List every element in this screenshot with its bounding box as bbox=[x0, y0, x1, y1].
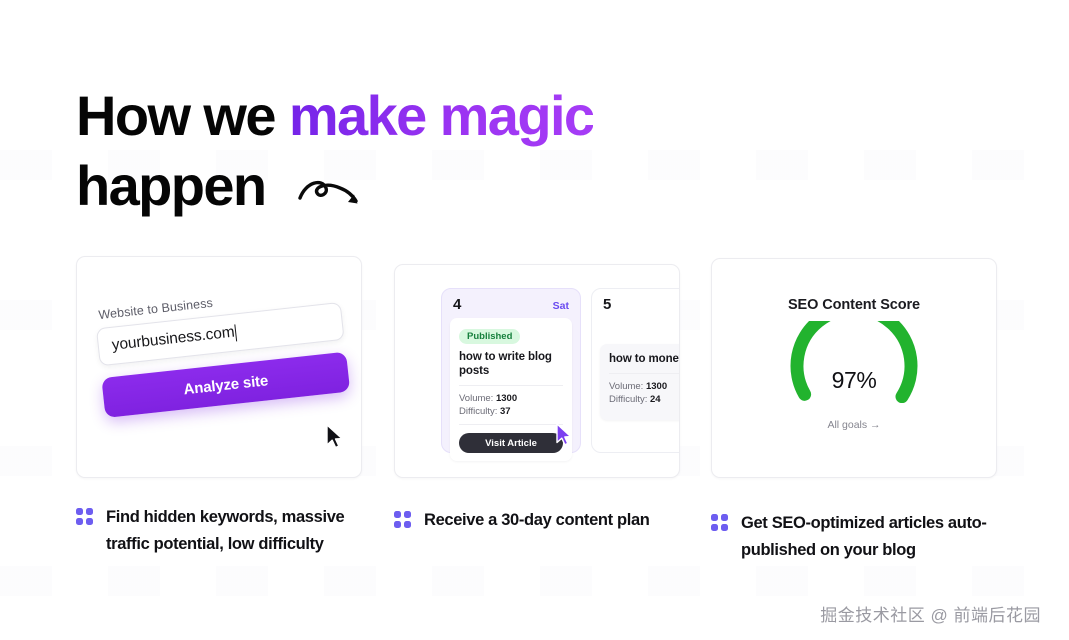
mouse-pointer-icon bbox=[555, 423, 575, 452]
volume-label: Volume: bbox=[609, 381, 643, 392]
difficulty-label: Difficulty: bbox=[609, 394, 647, 405]
plan-article: how to monetize Volume: 1300 Difficulty:… bbox=[600, 344, 680, 420]
analyze-site-form: Website to Business yourbusiness.com Ana… bbox=[94, 282, 350, 418]
plan-article-stats: Volume: 1300 Difficulty: 37 bbox=[459, 386, 563, 425]
background-pattern-band bbox=[0, 566, 1069, 596]
card-content-plan: 4 Sat Published how to write blog posts … bbox=[394, 264, 680, 478]
volume-value: 1300 bbox=[496, 393, 517, 404]
all-goals-link[interactable]: All goals → bbox=[712, 419, 996, 431]
card-seo-score: SEO Content Score 97% All goals → bbox=[711, 258, 997, 478]
feature-caption-text: Find hidden keywords, massive traffic po… bbox=[106, 504, 376, 558]
difficulty-value: 24 bbox=[650, 394, 661, 405]
feature-caption-text: Get SEO-optimized articles auto-publishe… bbox=[741, 510, 1011, 564]
status-badge: Published bbox=[459, 329, 520, 344]
volume-label: Volume: bbox=[459, 393, 493, 404]
page-title-plain: How we bbox=[76, 84, 289, 147]
feature-caption: Receive a 30-day content plan bbox=[394, 507, 694, 534]
mouse-pointer-icon bbox=[325, 424, 347, 455]
plan-article: Published how to write blog posts Volume… bbox=[450, 318, 572, 461]
plan-day-header: 5 bbox=[592, 289, 680, 316]
plan-day-weekday: Sat bbox=[553, 300, 569, 312]
volume-value: 1300 bbox=[646, 381, 667, 392]
difficulty-label: Difficulty: bbox=[459, 406, 497, 417]
curved-arrow-icon bbox=[296, 161, 368, 224]
plan-article-title: how to write blog posts bbox=[459, 350, 563, 386]
grid-2x2-icon bbox=[711, 514, 728, 531]
seo-score-title: SEO Content Score bbox=[712, 297, 996, 313]
feature-caption-text: Receive a 30-day content plan bbox=[424, 507, 650, 534]
website-input-value: yourbusiness.com bbox=[111, 324, 236, 355]
page-title-line-2: happen bbox=[76, 147, 696, 224]
page-title: How we make magic happen bbox=[76, 84, 696, 224]
plan-article-title: how to monetize bbox=[609, 352, 680, 374]
grid-2x2-icon bbox=[76, 508, 93, 525]
grid-2x2-icon bbox=[394, 511, 411, 528]
plan-day-number: 4 bbox=[453, 296, 461, 313]
feature-caption: Find hidden keywords, massive traffic po… bbox=[76, 504, 376, 558]
seo-score-value: 97% bbox=[712, 367, 996, 394]
page-title-accent: make magic bbox=[289, 84, 594, 147]
page-title-line-1: How we make magic bbox=[76, 84, 696, 147]
difficulty-stat: Difficulty: 24 bbox=[609, 393, 680, 406]
watermark: 掘金技术社区 @ 前端后花园 bbox=[820, 601, 1041, 626]
plan-day-card[interactable]: 5 how to monetize Volume: 1300 Difficult… bbox=[591, 288, 680, 453]
plan-article-stats: Volume: 1300 Difficulty: 24 bbox=[609, 374, 680, 412]
volume-stat: Volume: 1300 bbox=[609, 380, 680, 393]
page-title-line-2-text: happen bbox=[76, 154, 266, 217]
feature-caption: Get SEO-optimized articles auto-publishe… bbox=[711, 510, 1011, 564]
card-analyze-site: Website to Business yourbusiness.com Ana… bbox=[76, 256, 362, 478]
feature-cards-row: Website to Business yourbusiness.com Ana… bbox=[76, 256, 996, 478]
volume-stat: Volume: 1300 bbox=[459, 392, 563, 405]
plan-day-number: 5 bbox=[603, 296, 611, 313]
visit-article-button[interactable]: Visit Article bbox=[459, 433, 563, 453]
difficulty-value: 37 bbox=[500, 406, 511, 417]
difficulty-stat: Difficulty: 37 bbox=[459, 405, 563, 418]
plan-day-header: 4 Sat bbox=[442, 289, 580, 316]
